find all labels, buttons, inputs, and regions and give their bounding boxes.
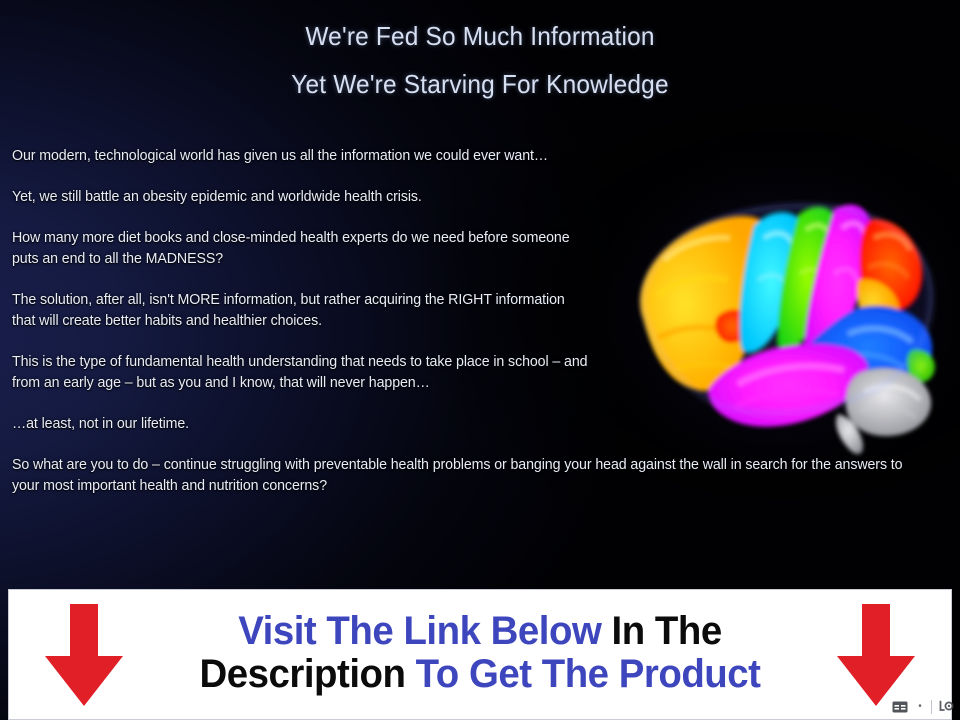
body-paragraph: …at least, not in our lifetime.: [12, 414, 588, 435]
quality-dot-icon[interactable]: •: [915, 700, 925, 714]
cta-line-2-black: Description: [200, 652, 406, 696]
body-paragraph: Yet, we still battle an obesity epidemic…: [12, 187, 588, 208]
red-down-arrow-icon: [833, 600, 919, 710]
body-paragraph: The solution, after all, isn't MORE info…: [12, 290, 588, 332]
player-control-bar[interactable]: •: [891, 696, 956, 718]
video-player-frame[interactable]: We're Fed So Much Information Yet We're …: [0, 0, 960, 720]
cta-banner[interactable]: Visit The Link Below In The Description …: [8, 589, 952, 720]
body-copy: Our modern, technological world has give…: [12, 146, 948, 497]
red-down-arrow-icon: [41, 600, 127, 710]
headline-line-2: Yet We're Starving For Knowledge: [29, 60, 931, 108]
cta-line-1: Visit The Link Below In The: [172, 611, 788, 652]
body-paragraph: So what are you to do – continue struggl…: [12, 455, 923, 497]
body-paragraph: Our modern, technological world has give…: [12, 146, 588, 167]
cta-line-2: Description To Get The Product: [172, 654, 788, 695]
cta-line-1-blue: Visit The Link Below: [238, 609, 601, 653]
body-paragraph: How many more diet books and close-minde…: [12, 228, 588, 270]
settings-gear-icon[interactable]: [938, 699, 956, 715]
control-divider: [931, 700, 932, 714]
body-paragraph: This is the type of fundamental health u…: [12, 352, 588, 394]
closed-captions-icon[interactable]: [891, 699, 909, 715]
cta-line-1-black: In The: [612, 609, 722, 653]
cta-text-block: Visit The Link Below In The Description …: [159, 611, 801, 699]
headline-block: We're Fed So Much Information Yet We're …: [0, 12, 960, 108]
cta-line-2-blue: To Get The Product: [416, 652, 761, 696]
right-arrow-cell: [801, 600, 951, 710]
left-arrow-cell: [9, 600, 159, 710]
headline-line-1: We're Fed So Much Information: [29, 12, 931, 60]
